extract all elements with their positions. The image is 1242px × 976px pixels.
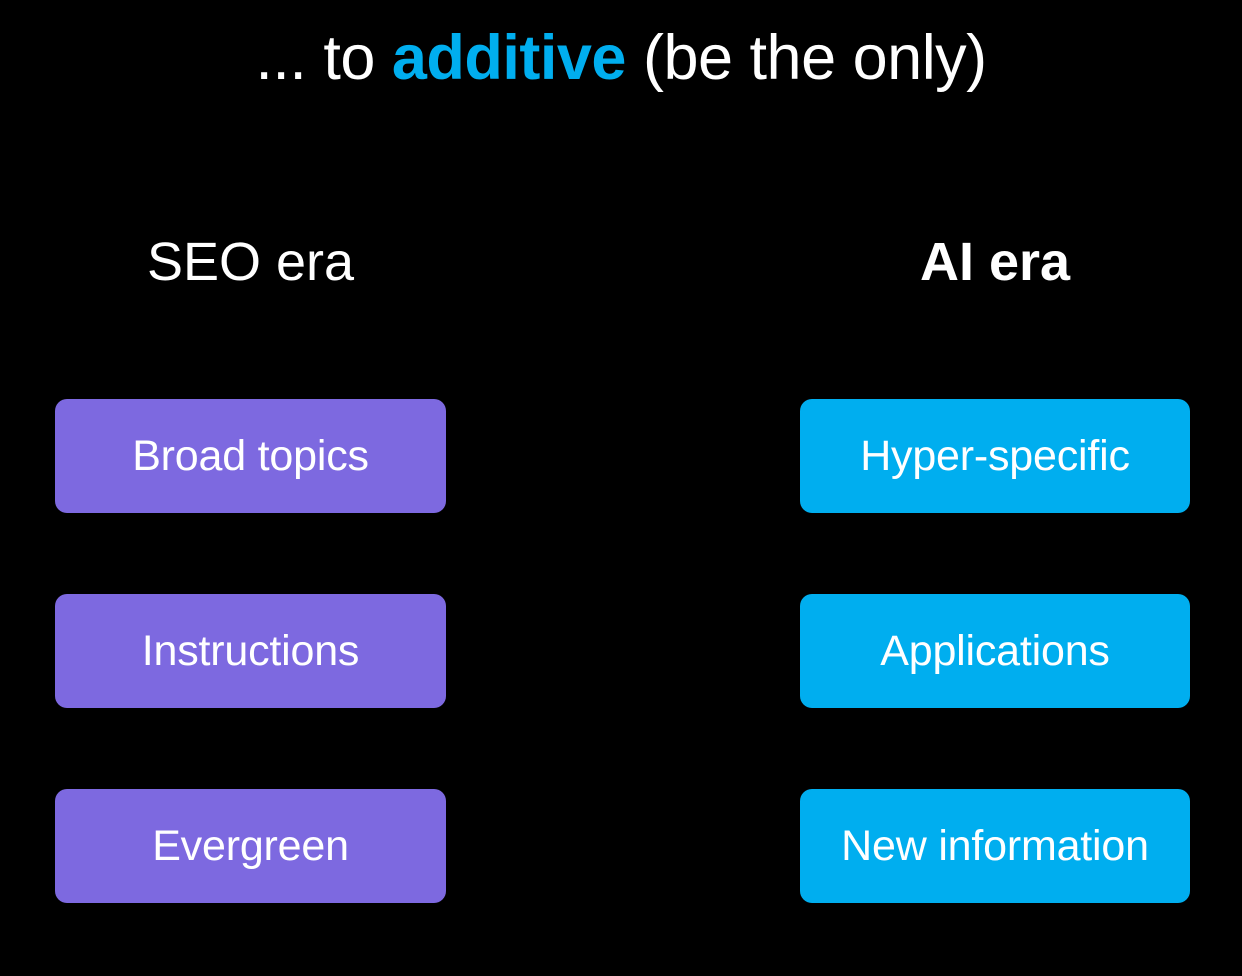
box-label: New information <box>841 825 1149 868</box>
box-seo-era-3[interactable]: Evergreen <box>55 789 446 903</box>
box-ai-era-1[interactable]: Hyper-specific <box>800 399 1190 513</box>
box-label: Instructions <box>142 630 359 673</box>
title-accent-word: additive <box>392 23 626 93</box>
box-label: Evergreen <box>152 825 349 868</box>
box-label: Applications <box>880 630 1109 673</box>
box-label: Hyper-specific <box>860 435 1130 478</box>
slide-canvas: ... to additive (be the only) SEO era AI… <box>0 0 1242 976</box>
box-label: Broad topics <box>132 435 369 478</box>
title-trail: (be the only) <box>626 23 987 93</box>
column-header-ai-era: AI era <box>800 233 1190 292</box>
column-header-seo-era: SEO era <box>55 233 446 292</box>
box-seo-era-1[interactable]: Broad topics <box>55 399 446 513</box>
box-seo-era-2[interactable]: Instructions <box>55 594 446 708</box>
box-ai-era-2[interactable]: Applications <box>800 594 1190 708</box>
title-lead: ... to <box>255 23 392 93</box>
page-title: ... to additive (be the only) <box>0 24 1242 93</box>
box-ai-era-3[interactable]: New information <box>800 789 1190 903</box>
